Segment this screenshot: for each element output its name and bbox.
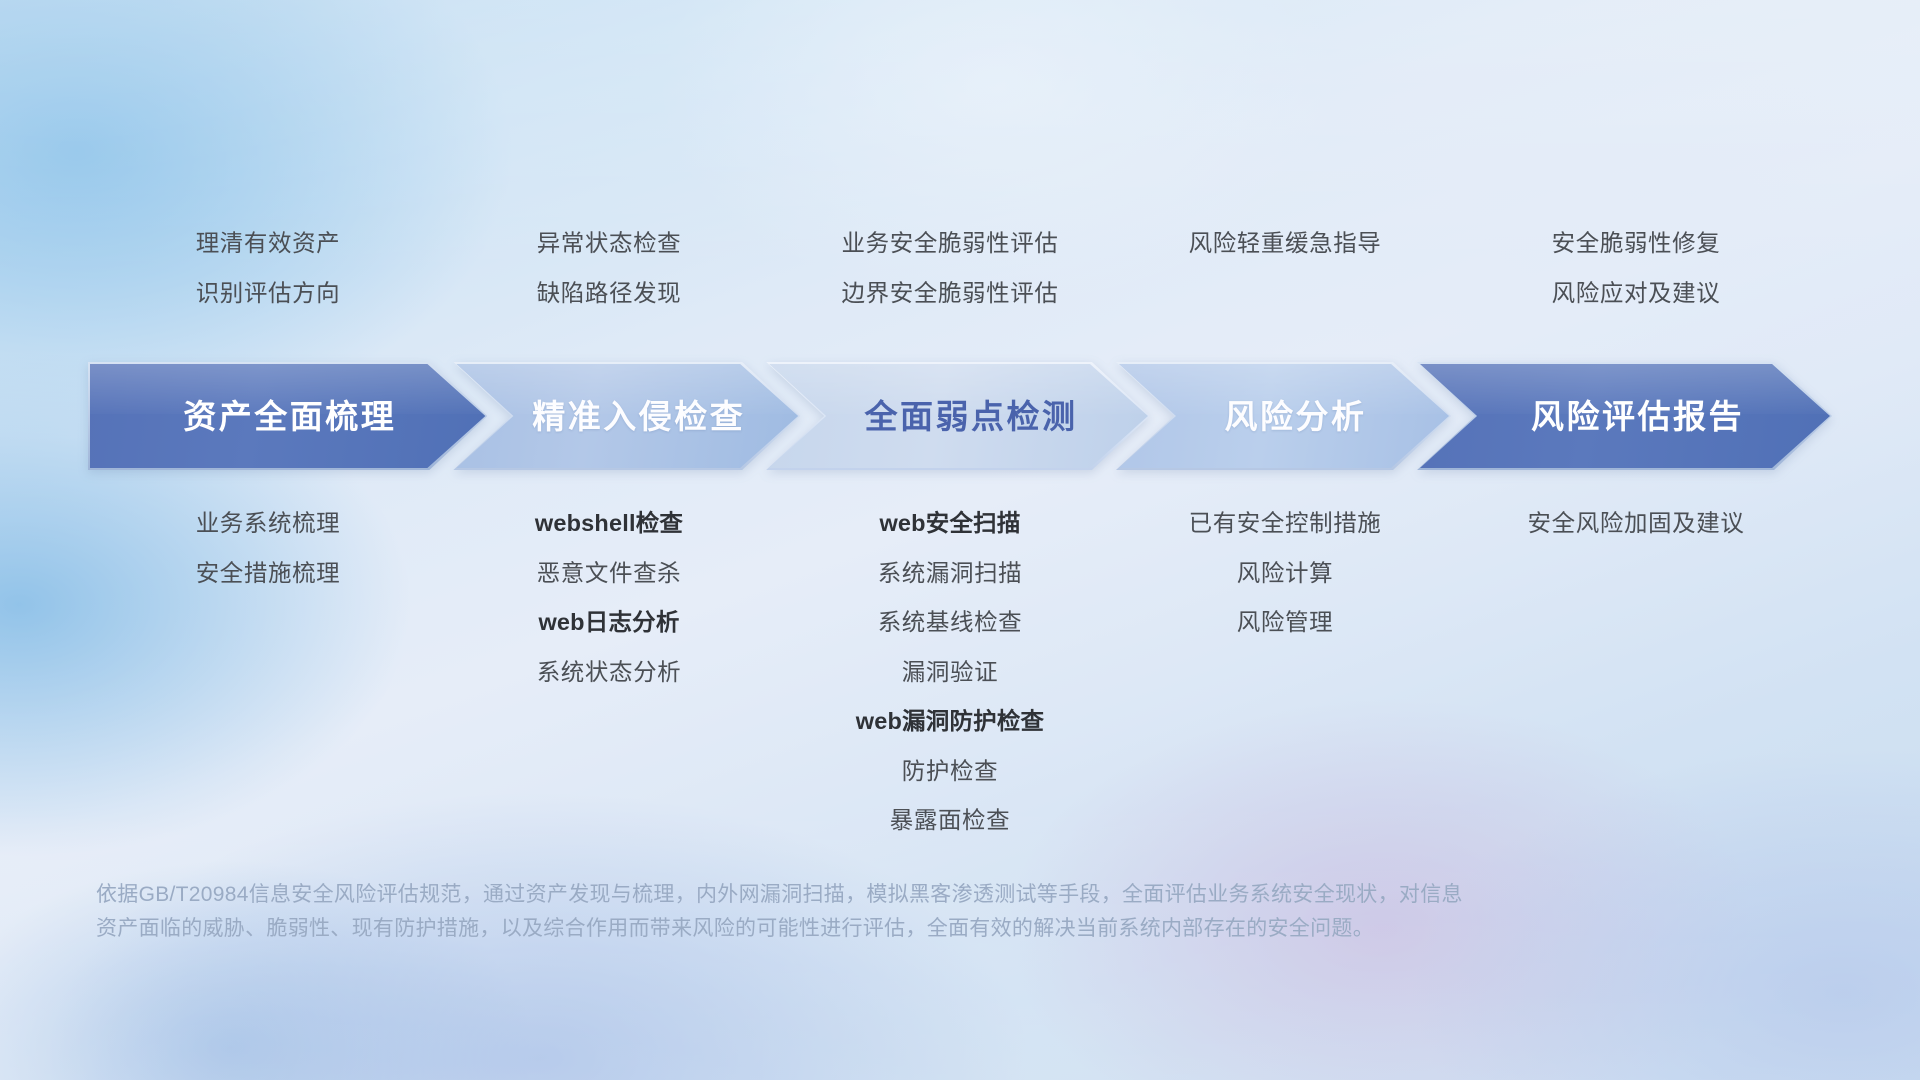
note-item: 暴露面检查: [890, 809, 1011, 833]
process-step-label: 精准入侵检查: [508, 400, 745, 433]
note-item: 异常状态检查: [537, 232, 682, 256]
note-item: web安全扫描: [879, 512, 1020, 536]
footer-description: 依据GB/T20984信息安全风险评估规范，通过资产发现与梳理，内外网漏洞扫描，…: [96, 878, 1596, 946]
note-item: web日志分析: [538, 611, 679, 635]
top-notes-asset-inventory: 理清有效资产 识别评估方向: [88, 232, 448, 305]
process-step-asset-inventory[interactable]: 资产全面梳理: [88, 362, 487, 470]
note-item: 风险应对及建议: [1552, 282, 1721, 306]
process-step-label: 资产全面梳理: [179, 400, 396, 433]
bottom-notes-intrusion-check: webshell检查 恶意文件查杀 web日志分析 系统状态分析: [448, 512, 770, 684]
process-step-risk-analysis[interactable]: 风险分析: [1116, 362, 1451, 470]
note-item: web漏洞防护检查: [856, 710, 1045, 734]
note-item: 系统漏洞扫描: [878, 562, 1023, 586]
note-item: 系统状态分析: [537, 661, 682, 685]
note-item: webshell检查: [535, 512, 683, 536]
note-item: 恶意文件查杀: [537, 562, 682, 586]
bottom-notes-row: 业务系统梳理 安全措施梳理 webshell检查 恶意文件查杀 web日志分析 …: [88, 512, 1832, 833]
bottom-notes-weakness-detection: web安全扫描 系统漏洞扫描 系统基线检查 漏洞验证 web漏洞防护检查 防护检…: [770, 512, 1130, 833]
note-item: 风险轻重缓急指导: [1189, 232, 1382, 256]
top-notes-intrusion-check: 异常状态检查 缺陷路径发现: [448, 232, 770, 305]
top-notes-weakness-detection: 业务安全脆弱性评估 边界安全脆弱性评估: [770, 232, 1130, 305]
note-item: 缺陷路径发现: [537, 282, 682, 306]
footer-line-1: 依据GB/T20984信息安全风险评估规范，通过资产发现与梳理，内外网漏洞扫描，…: [96, 878, 1596, 912]
note-item: 安全风险加固及建议: [1528, 512, 1745, 536]
note-item: 边界安全脆弱性评估: [842, 282, 1059, 306]
process-step-intrusion-check[interactable]: 精准入侵检查: [453, 362, 800, 470]
process-step-label: 全面弱点检测: [839, 400, 1078, 433]
bottom-notes-risk-analysis: 已有安全控制措施 风险计算 风险管理: [1130, 512, 1440, 635]
note-item: 漏洞验证: [902, 661, 998, 685]
note-item: 识别评估方向: [196, 282, 341, 306]
process-step-label: 风险分析: [1201, 400, 1367, 433]
note-item: 业务安全脆弱性评估: [842, 232, 1059, 256]
slide-canvas: 理清有效资产 识别评估方向 异常状态检查 缺陷路径发现 业务安全脆弱性评估 边界…: [0, 0, 1920, 1080]
top-notes-risk-analysis: 风险轻重缓急指导: [1130, 232, 1440, 305]
note-item: 理清有效资产: [196, 232, 341, 256]
note-item: 风险管理: [1237, 611, 1333, 635]
process-step-label: 风险评估报告: [1505, 400, 1744, 433]
top-notes-row: 理清有效资产 识别评估方向 异常状态检查 缺陷路径发现 业务安全脆弱性评估 边界…: [88, 232, 1832, 305]
footer-line-2: 资产面临的威胁、脆弱性、现有防护措施，以及综合作用而带来风险的可能性进行评估，全…: [96, 912, 1596, 946]
top-notes-assessment-report: 安全脆弱性修复 风险应对及建议: [1440, 232, 1832, 305]
process-step-weakness-detection[interactable]: 全面弱点检测: [766, 362, 1150, 470]
note-item: 业务系统梳理: [196, 512, 341, 536]
note-item: 系统基线检查: [878, 611, 1023, 635]
note-item: 安全脆弱性修复: [1552, 232, 1721, 256]
bottom-notes-asset-inventory: 业务系统梳理 安全措施梳理: [88, 512, 448, 585]
note-item: 安全措施梳理: [196, 562, 341, 586]
note-item: 防护检查: [902, 760, 998, 784]
note-item: 已有安全控制措施: [1189, 512, 1382, 536]
note-item: 风险计算: [1237, 562, 1333, 586]
process-arrow-band: 资产全面梳理 精准入侵检查 全面弱点检测: [88, 362, 1832, 470]
process-step-assessment-report[interactable]: 风险评估报告: [1417, 362, 1832, 470]
bottom-notes-assessment-report: 安全风险加固及建议: [1440, 512, 1832, 536]
